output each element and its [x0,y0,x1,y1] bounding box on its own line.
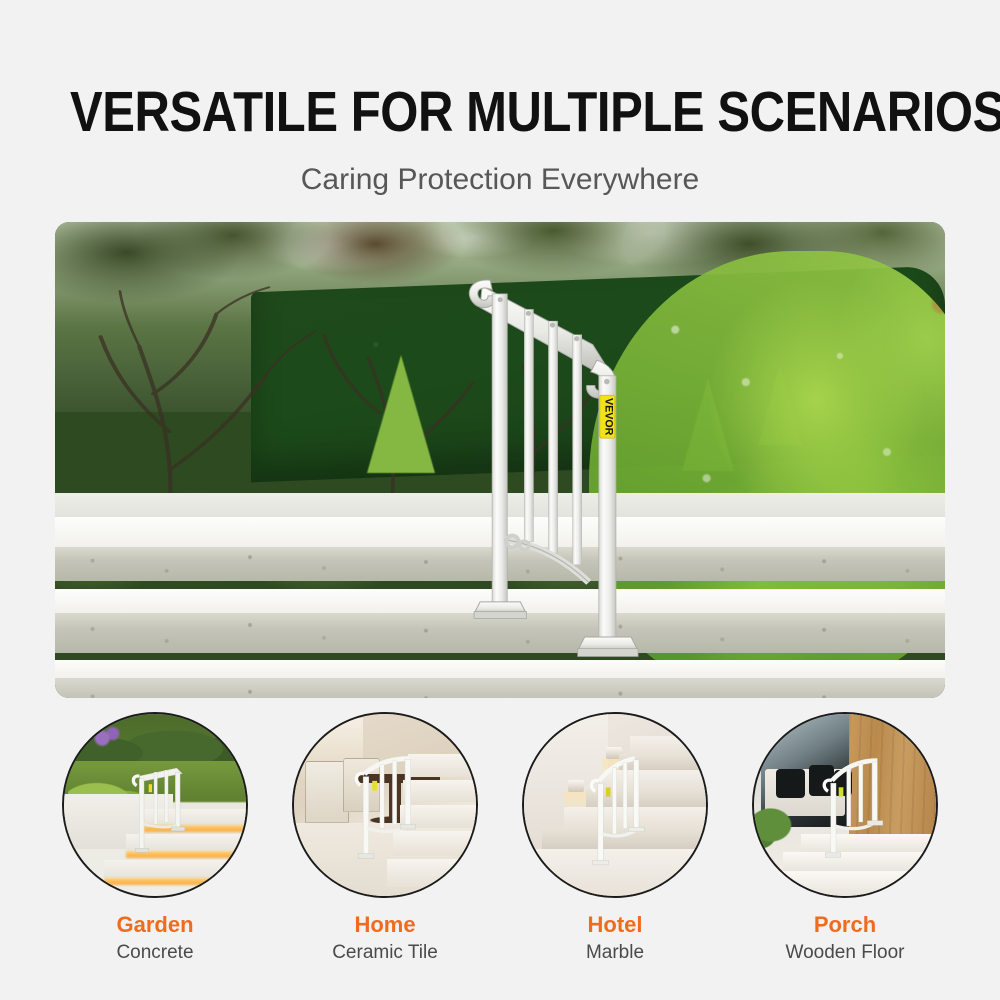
scenario-surface: Wooden Floor [786,941,905,964]
granite-step [55,660,945,698]
scenario-surface: Concrete [116,941,193,964]
page-title: VERSATILE FOR MULTIPLE SCENARIOS [70,84,930,141]
scenario-title: Hotel [588,912,643,938]
scenario-item-hotel[interactable]: Hotel Marble [522,712,708,964]
porch-steps-thumbnail[interactable] [752,712,938,898]
handrail-product: VEVOR [464,251,695,660]
wall-sconce-icon [568,780,584,792]
home-interior-thumbnail[interactable] [292,712,478,898]
scenario-title: Garden [116,912,193,938]
garden-scene: VEVOR [55,222,945,698]
scenario-title: Porch [814,912,876,938]
scenario-surface: Marble [586,941,644,964]
hero-image: VEVOR [55,222,945,698]
vevor-badge: VEVOR [600,395,615,438]
scenario-surface: Ceramic Tile [332,941,438,964]
scenario-list: Garden Concrete [0,712,1000,964]
scenario-item-home[interactable]: Home Ceramic Tile [292,712,478,964]
svg-text:VEVOR: VEVOR [603,398,615,436]
hotel-staircase-thumbnail[interactable] [522,712,708,898]
scenario-item-garden[interactable]: Garden Concrete [62,712,248,964]
garden-steps-thumbnail[interactable] [62,712,248,898]
page-subtitle: Caring Protection Everywhere [0,163,1000,197]
scenario-title: Home [354,912,415,938]
scenario-item-porch[interactable]: Porch Wooden Floor [752,712,938,964]
